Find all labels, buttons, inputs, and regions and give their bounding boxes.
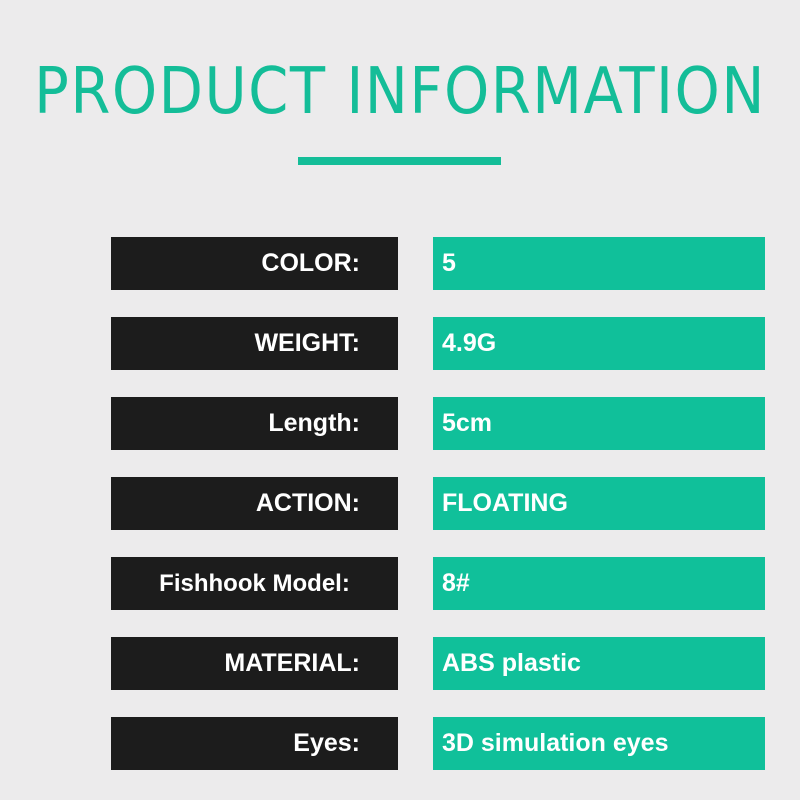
title-underline-accent [298, 157, 501, 165]
spec-label-material: MATERIAL: [111, 637, 398, 690]
table-row: WEIGHT: 4.9G [0, 317, 800, 370]
spec-label-weight: WEIGHT: [111, 317, 398, 370]
table-row: ACTION: FLOATING [0, 477, 800, 530]
page-title: PRODUCT INFORMATION [0, 57, 800, 127]
spec-value-material: ABS plastic [433, 637, 765, 690]
specification-table: COLOR: 5 WEIGHT: 4.9G Length: 5cm ACTION… [0, 237, 800, 770]
spec-label-eyes: Eyes: [111, 717, 398, 770]
spec-label-length: Length: [111, 397, 398, 450]
table-row: MATERIAL: ABS plastic [0, 637, 800, 690]
table-row: Length: 5cm [0, 397, 800, 450]
spec-value-action: FLOATING [433, 477, 765, 530]
page-header: PRODUCT INFORMATION [0, 0, 800, 200]
table-row: Fishhook Model: 8# [0, 557, 800, 610]
product-information-page: PRODUCT INFORMATION COLOR: 5 WEIGHT: 4.9… [0, 0, 800, 800]
spec-value-length: 5cm [433, 397, 765, 450]
spec-label-action: ACTION: [111, 477, 398, 530]
spec-label-color: COLOR: [111, 237, 398, 290]
spec-value-fishhook-model: 8# [433, 557, 765, 610]
spec-value-weight: 4.9G [433, 317, 765, 370]
spec-value-eyes: 3D simulation eyes [433, 717, 765, 770]
spec-value-color: 5 [433, 237, 765, 290]
table-row: COLOR: 5 [0, 237, 800, 290]
table-row: Eyes: 3D simulation eyes [0, 717, 800, 770]
spec-label-fishhook-model: Fishhook Model: [111, 557, 398, 610]
